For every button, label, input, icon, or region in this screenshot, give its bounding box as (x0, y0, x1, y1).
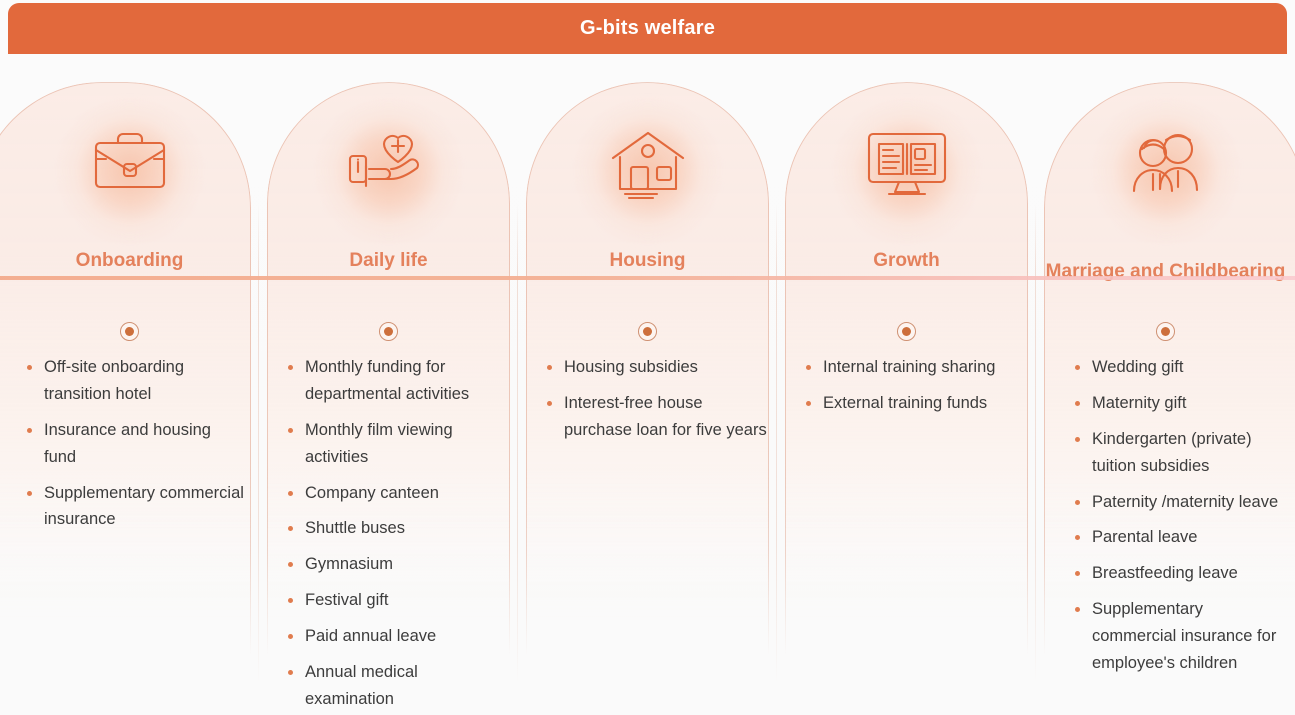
list-item: Internal training sharing (803, 354, 1026, 381)
benefit-list: Wedding gift Maternity gift Kindergarten… (1072, 354, 1289, 686)
briefcase-icon (74, 114, 186, 214)
list-item: Festival gift (285, 587, 508, 614)
timeline-node (638, 322, 657, 341)
welfare-column-marriage-childbearing[interactable]: Marriage and Childbearing Wedding gift M… (1036, 54, 1295, 715)
column-title: Daily life (265, 250, 512, 271)
welfare-column-housing[interactable]: Housing Housing subsidies Interest-free … (518, 54, 777, 715)
list-item: Breastfeeding leave (1072, 560, 1289, 587)
list-item: Parental leave (1072, 524, 1289, 551)
timeline-node (120, 322, 139, 341)
list-item: Shuttle buses (285, 515, 508, 542)
list-item: External training funds (803, 390, 1026, 417)
house-icon (592, 114, 704, 214)
list-item: Off-site onboarding transition hotel (24, 354, 245, 408)
list-item: Insurance and housing fund (24, 417, 245, 471)
list-item: Maternity gift (1072, 390, 1289, 417)
welfare-column-daily-life[interactable]: Daily life Monthly funding for departmen… (259, 54, 518, 715)
monitor-book-learning-icon (851, 114, 963, 214)
list-item: Supplementary commercial insurance for e… (1072, 596, 1289, 677)
benefit-list: Monthly funding for departmental activit… (285, 354, 508, 715)
list-item: Monthly film viewing activities (285, 417, 508, 471)
benefit-list: Off-site onboarding transition hotel Ins… (24, 354, 245, 542)
timeline-node (379, 322, 398, 341)
list-item: Monthly funding for departmental activit… (285, 354, 508, 408)
column-title: Onboarding (6, 250, 253, 271)
list-item: Housing subsidies (544, 354, 767, 381)
timeline-node (1156, 322, 1175, 341)
list-item: Wedding gift (1072, 354, 1289, 381)
list-item: Kindergarten (private) tuition subsidies (1072, 426, 1289, 480)
welfare-columns: Onboarding Off-site onboarding transitio… (0, 54, 1295, 715)
column-title: Growth (783, 250, 1030, 271)
list-item: Annual medical examination (285, 659, 508, 713)
header-bar: G-bits welfare (8, 3, 1287, 54)
timeline-node (897, 322, 916, 341)
list-item: Gymnasium (285, 551, 508, 578)
column-title: Housing (524, 250, 771, 271)
infographic-root: G-bits welfare Onboarding Off-site onboa… (0, 0, 1295, 715)
page-title: G-bits welfare (580, 17, 715, 40)
welfare-column-onboarding[interactable]: Onboarding Off-site onboarding transitio… (0, 54, 259, 715)
list-item: Company canteen (285, 480, 508, 507)
list-item: Interest-free house purchase loan for fi… (544, 390, 767, 444)
timeline-connector-line (0, 276, 1295, 280)
list-item: Supplementary commercial insurance (24, 480, 245, 534)
hand-heart-care-icon (333, 114, 445, 214)
couple-icon (1110, 114, 1222, 214)
welfare-column-growth[interactable]: Growth Internal training sharing Externa… (777, 54, 1036, 715)
list-item: Paternity /maternity leave (1072, 489, 1289, 516)
benefit-list: Internal training sharing External train… (803, 354, 1026, 426)
list-item: Paid annual leave (285, 623, 508, 650)
benefit-list: Housing subsidies Interest-free house pu… (544, 354, 767, 453)
